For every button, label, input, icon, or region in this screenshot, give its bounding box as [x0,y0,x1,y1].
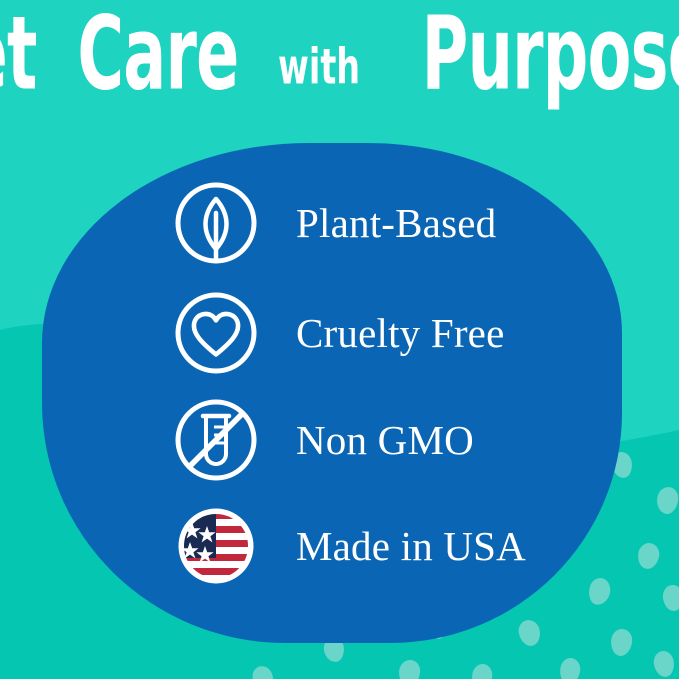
feature-row-cruelty-free: Cruelty Free [170,287,504,379]
feature-row-made-in-usa: Made in USA [170,500,526,592]
headline-word-pet: Pet [0,12,37,97]
leaf-icon [170,177,262,269]
headline-word-purpose: Purpose [422,12,679,97]
usa-flag-icon [170,500,262,592]
feature-label: Non GMO [296,420,474,461]
headline: Pet Care with Purpose ® [0,0,679,122]
feature-row-plant-based: Plant-Based [170,177,496,269]
headline-connector-with: with [278,47,360,88]
feature-label: Plant-Based [296,203,496,244]
feature-label: Made in USA [296,526,526,567]
graphic-canvas: Pet Care with Purpose ® Plant-Based [0,0,679,679]
heart-icon [170,287,262,379]
headline-word-care: Care [78,12,239,97]
feature-label: Cruelty Free [296,313,504,354]
no-gmo-icon [170,394,262,486]
feature-row-non-gmo: Non GMO [170,394,474,486]
